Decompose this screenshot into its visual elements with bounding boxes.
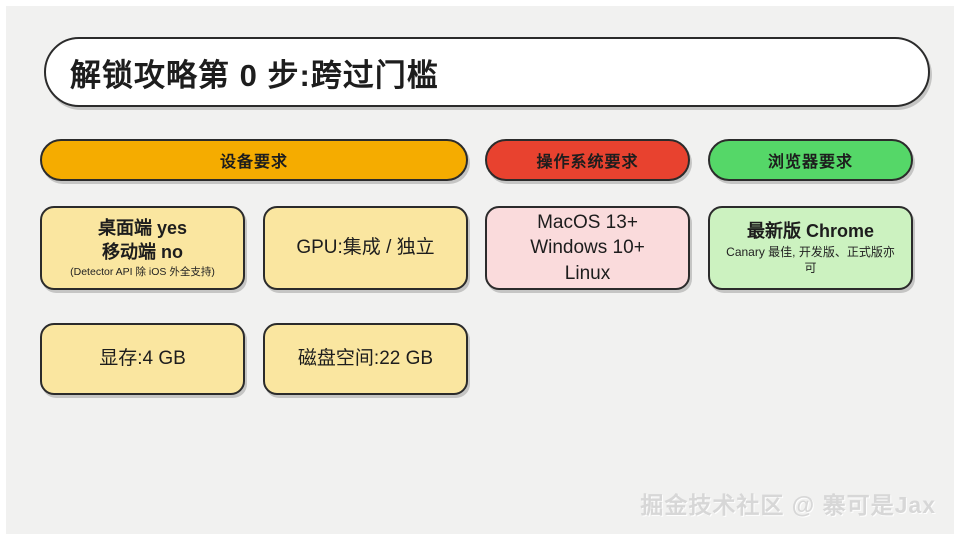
card-platform-support: 桌面端 yes 移动端 no (Detector API 除 iOS 外全支持) xyxy=(40,206,245,290)
watermark: 掘金技术社区 @ 寨可是Jax xyxy=(640,486,936,520)
card-gpu-requirement: GPU:集成 / 独立 xyxy=(263,206,468,290)
card-platform-line1: 桌面端 yes xyxy=(98,216,187,240)
card-disk-requirement: 磁盘空间:22 GB xyxy=(263,323,468,395)
card-os-line2: Windows 10+ xyxy=(530,235,645,260)
category-badge-os: 操作系统要求 xyxy=(485,139,690,181)
card-gpu-line1: GPU:集成 / 独立 xyxy=(296,235,434,260)
category-badge-os-label: 操作系统要求 xyxy=(536,148,638,172)
card-vram-line1: 显存:4 GB xyxy=(99,346,186,371)
slide-canvas: 解锁攻略第 0 步:跨过门槛 设备要求 操作系统要求 浏览器要求 桌面端 yes… xyxy=(0,0,960,540)
card-vram-requirement: 显存:4 GB xyxy=(40,323,245,395)
category-badge-browser: 浏览器要求 xyxy=(708,139,913,181)
card-browser-note: Canary 最佳, 开发版、正式版亦可 xyxy=(721,245,901,276)
card-os-line1: MacOS 13+ xyxy=(537,210,638,235)
category-badge-device-label: 设备要求 xyxy=(220,148,288,172)
card-disk-line1: 磁盘空间:22 GB xyxy=(298,346,433,371)
card-os-line3: Linux xyxy=(565,261,610,286)
card-browser-line1: 最新版 Chrome xyxy=(747,219,874,243)
card-os-requirement: MacOS 13+ Windows 10+ Linux xyxy=(485,206,690,290)
category-badge-browser-label: 浏览器要求 xyxy=(768,148,853,172)
slide-title-pill: 解锁攻略第 0 步:跨过门槛 xyxy=(44,37,930,107)
category-badge-device: 设备要求 xyxy=(40,139,468,181)
page-title: 解锁攻略第 0 步:跨过门槛 xyxy=(46,50,439,95)
card-platform-note: (Detector API 除 iOS 外全支持) xyxy=(70,266,215,280)
card-browser-requirement: 最新版 Chrome Canary 最佳, 开发版、正式版亦可 xyxy=(708,206,913,290)
card-platform-line2: 移动端 no xyxy=(102,240,183,264)
